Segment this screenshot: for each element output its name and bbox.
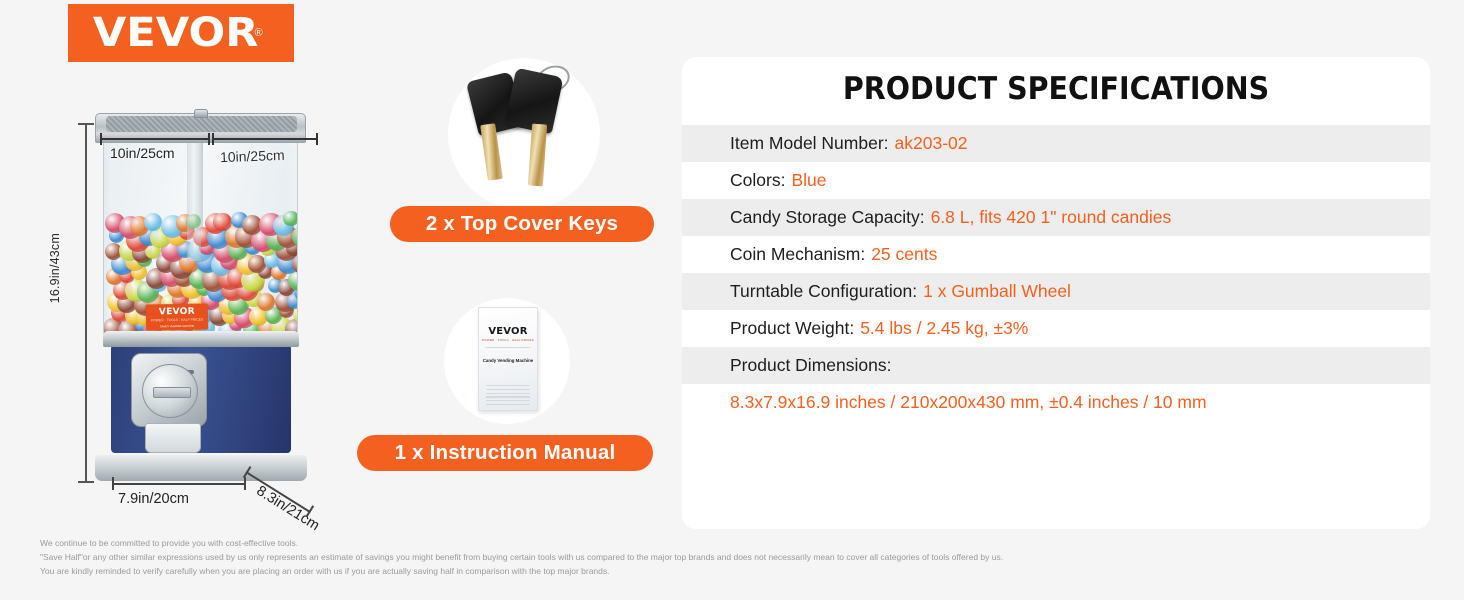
spec-value: 25 cents — [871, 244, 937, 265]
spec-row: Product Dimensions: — [682, 347, 1430, 384]
sticker-tagline: POWER · TOOLS · HALF PRICES — [146, 317, 208, 322]
spec-value: 6.8 L, fits 420 1" round candies — [931, 207, 1172, 228]
accessory-label-keys: 2 x Top Cover Keys — [390, 206, 654, 242]
spec-label: Candy Storage Capacity: — [730, 207, 925, 228]
footer-line-3: You are kindly reminded to verify carefu… — [40, 564, 1430, 578]
dimension-label-top-right: 10in/25cm — [220, 147, 285, 165]
width-caliper-bottom-icon — [112, 483, 246, 485]
manual-icon: VEVOR POWER · TOOLS · HALF PRICES Candy … — [478, 307, 538, 411]
dimension-label-height: 16.9in/43cm — [48, 233, 62, 303]
spec-value: ak203-02 — [895, 133, 968, 154]
spec-value: Blue — [791, 170, 826, 191]
logo-wordmark: VEVOR — [93, 13, 259, 53]
page-title: PRODUCT SPECIFICATIONS — [712, 71, 1400, 107]
spec-value: 8.3x7.9x16.9 inches / 210x200x430 mm, ±0… — [730, 392, 1207, 413]
specifications-card: PRODUCT SPECIFICATIONS Item Model Number… — [682, 57, 1430, 529]
spec-label: Turntable Configuration: — [730, 281, 917, 302]
sticker-brand: VEVOR — [146, 306, 208, 317]
machine-chrome-band — [103, 331, 299, 347]
spec-row: Colors:Blue — [682, 162, 1430, 199]
spec-row: Turntable Configuration:1 x Gumball Whee… — [682, 273, 1430, 310]
candy-dispense-chute — [145, 423, 201, 453]
lid-texture — [106, 116, 297, 132]
knob-handle-icon — [153, 387, 191, 398]
spec-label: Product Weight: — [730, 318, 854, 339]
spec-row: Coin Mechanism:25 cents — [682, 236, 1430, 273]
manual-brand: VEVOR — [479, 326, 537, 337]
turn-knob-icon — [142, 364, 198, 418]
accessory-label-manual: 1 x Instruction Manual — [357, 435, 653, 471]
spec-label: Item Model Number: — [730, 133, 889, 154]
width-caliper-right-icon — [212, 138, 318, 140]
footer-line-1: We continue to be committed to provide y… — [40, 536, 1430, 550]
globe-neck — [187, 141, 201, 261]
machine-body — [101, 331, 301, 461]
footer-disclaimer: We continue to be committed to provide y… — [40, 536, 1430, 578]
spec-label: Coin Mechanism: — [730, 244, 865, 265]
key-blade-right — [528, 124, 547, 187]
coin-mechanism-plate — [131, 353, 207, 427]
key-blade-left — [480, 123, 503, 181]
width-caliper-left-icon — [100, 138, 210, 140]
product-image: 16.9in/43cm VEVOR POWER · TOOLS · HALF P… — [40, 105, 360, 525]
footer-line-2: "Save Half"or any other similar expressi… — [40, 550, 1430, 564]
lid-knob-icon — [194, 109, 208, 118]
sticker-body: CANDY VENDING MACHINE — [146, 324, 208, 329]
spec-label: Product Dimensions: — [730, 355, 891, 376]
vevor-logo: VEVOR® — [68, 4, 294, 62]
machine-base — [95, 455, 307, 481]
manual-divider — [485, 347, 531, 348]
spec-row: Candy Storage Capacity:6.8 L, fits 420 1… — [682, 199, 1430, 236]
spec-value: 1 x Gumball Wheel — [923, 281, 1071, 302]
manual-tagline: POWER · TOOLS · HALF PRICES — [479, 338, 537, 342]
candy-vending-machine-illustration: VEVOR POWER · TOOLS · HALF PRICES CANDY … — [95, 113, 315, 508]
spec-value: 5.4 lbs / 2.45 kg, ±3% — [860, 318, 1028, 339]
keys-icon — [448, 58, 600, 210]
specifications-table: Item Model Number:ak203-02Colors:BlueCan… — [682, 125, 1430, 421]
globe-brand-sticker: VEVOR POWER · TOOLS · HALF PRICES CANDY … — [146, 303, 208, 330]
spec-label: Colors: — [730, 170, 785, 191]
manual-body-lines — [479, 385, 537, 405]
height-caliper-icon — [85, 123, 87, 483]
spec-row: 8.3x7.9x16.9 inches / 210x200x430 mm, ±0… — [682, 384, 1430, 421]
dimension-label-bottom-front: 7.9in/20cm — [118, 491, 189, 507]
dimension-label-top-left: 10in/25cm — [110, 145, 175, 161]
manual-title: Candy Vending Machine — [479, 358, 537, 363]
spec-row: Item Model Number:ak203-02 — [682, 125, 1430, 162]
spec-row: Product Weight:5.4 lbs / 2.45 kg, ±3% — [682, 310, 1430, 347]
